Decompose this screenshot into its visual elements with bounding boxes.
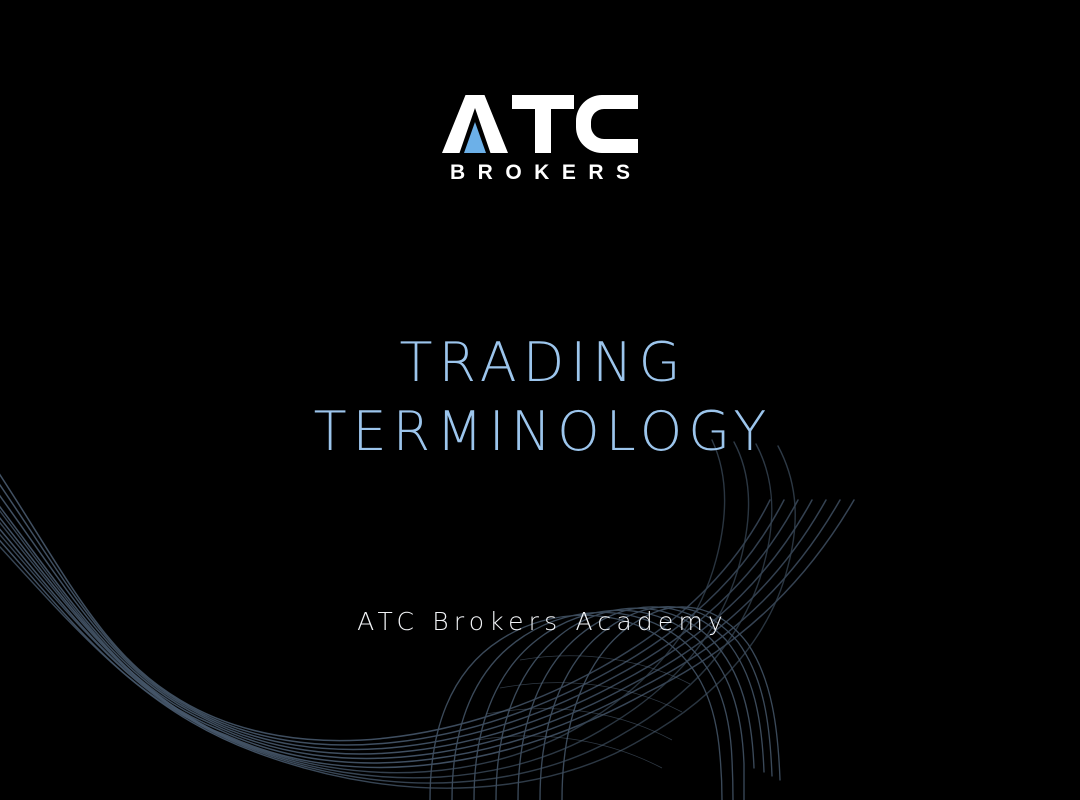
brand-logo: BROKERS [0,95,1080,183]
subtitle: ATC Brokers Academy [0,607,1080,637]
page-title-line-2: TERMINOLOGY [0,397,1080,466]
page-title-line-1: TRADING [0,328,1080,397]
logo-wordmark: BROKERS [437,162,642,183]
atc-logo-mark [442,95,638,158]
page-title: TRADING TERMINOLOGY [0,328,1080,466]
title-slide: BROKERS TRADING TERMINOLOGY ATC Brokers … [0,0,1080,800]
